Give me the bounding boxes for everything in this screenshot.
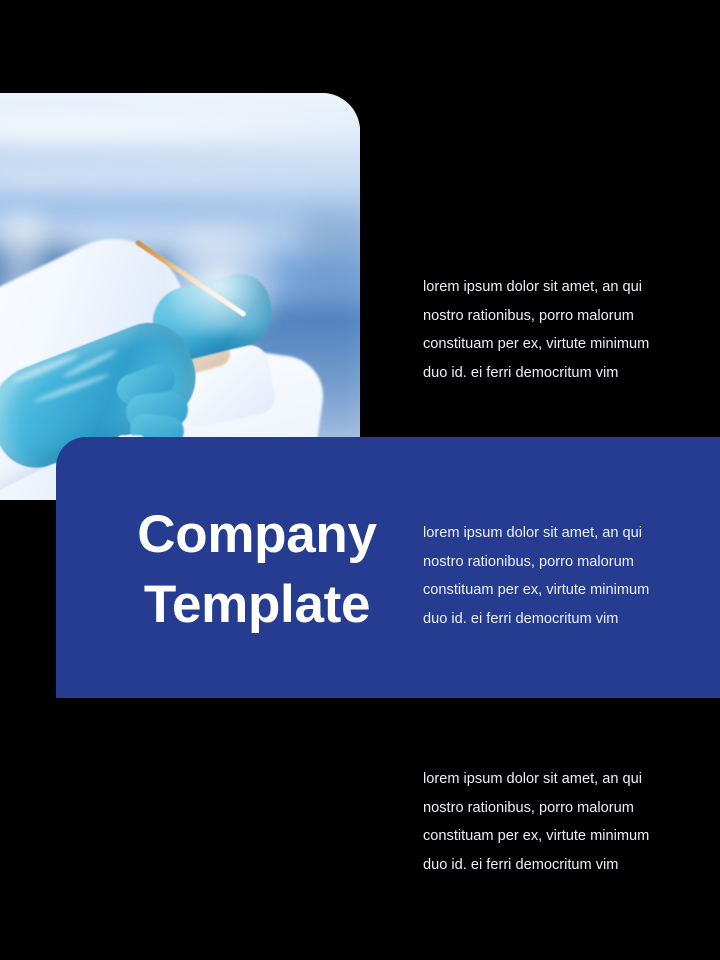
body-paragraph-bottom: lorem ipsum dolor sit amet, an qui nostr… xyxy=(423,765,673,879)
photo-light-streak xyxy=(0,113,360,139)
page-title: Company Template xyxy=(117,500,397,640)
pipette-glare xyxy=(170,213,290,333)
photo-blur-shape xyxy=(300,213,360,303)
body-paragraph-top: lorem ipsum dolor sit amet, an qui nostr… xyxy=(423,273,673,387)
slide-canvas: Company Template lorem ipsum dolor sit a… xyxy=(0,0,720,960)
photo-light-streak xyxy=(0,171,360,187)
body-paragraph-middle: lorem ipsum dolor sit amet, an qui nostr… xyxy=(423,519,673,633)
